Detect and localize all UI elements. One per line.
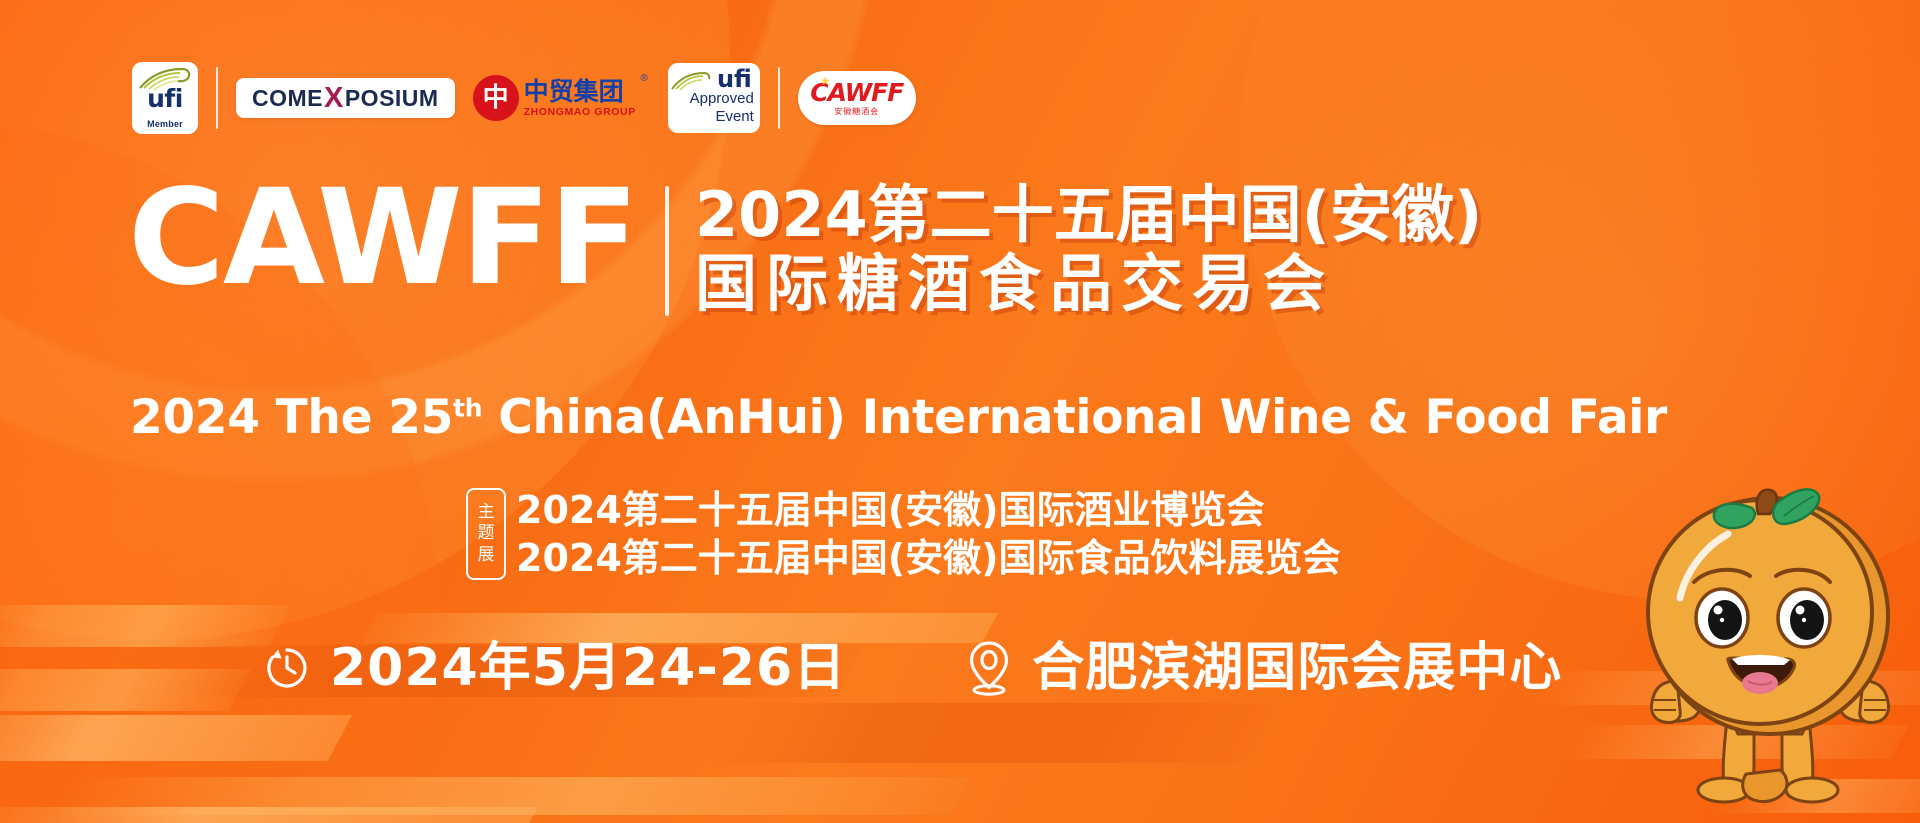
theme-exhibition-line-2: 2024第二十五届中国(安徽)国际食品饮料展览会 — [516, 536, 1341, 580]
ufi-member-subtitle: Member — [132, 119, 198, 129]
orange-mascot — [1632, 478, 1908, 823]
theme-tag-char-3: 展 — [478, 545, 495, 566]
cawff-badge-subtitle: 安徽糖酒会 — [834, 106, 879, 117]
cawff-event-banner: ufi Member COME X POSIUM 中 中贸集团 ZHONGMAO… — [0, 0, 1920, 823]
subtitle-prefix: 2024 The 25 — [130, 390, 453, 445]
ufi-approved-line-1: Approved — [668, 91, 754, 107]
location-pin-icon — [964, 640, 1014, 696]
ufi-approved-line-2: Event — [668, 109, 754, 125]
subtitle-ordinal-suffix: th — [453, 393, 482, 422]
ufi-approved-wordmark: ufi — [717, 67, 752, 91]
ufi-approved-wing-icon — [671, 71, 711, 91]
logo-divider-1 — [216, 67, 218, 129]
ufi-member-wordmark: ufi — [132, 86, 198, 111]
zhongmao-cn-name: 中贸集团 — [524, 79, 624, 104]
theme-tag-char-2: 题 — [478, 523, 495, 544]
theme-tag-label: 主 题 展 — [466, 488, 506, 580]
hero-acronym: CAWFF — [128, 178, 637, 299]
subtitle-suffix: China(AnHui) International Wine & Food F… — [482, 390, 1667, 445]
logo-divider-2 — [778, 67, 780, 129]
clock-icon — [262, 643, 312, 693]
hero-vertical-rule — [665, 186, 669, 316]
star-icon: ★ — [820, 74, 831, 88]
hero-english-subtitle: 2024 The 25th China(AnHui) International… — [130, 390, 1667, 445]
theme-exhibition-line-1: 2024第二十五届中国(安徽)国际酒业博览会 — [516, 488, 1341, 532]
comexposium-logo: COME X POSIUM — [236, 78, 455, 118]
theme-tag-char-1: 主 — [478, 502, 495, 523]
event-venue-text: 合肥滨湖国际会展中心 — [1032, 642, 1562, 694]
zhongmao-en-name: ZHONGMAO GROUP — [524, 107, 636, 118]
event-venue-item: 合肥滨湖国际会展中心 — [964, 640, 1562, 696]
ufi-member-logo: ufi Member — [132, 62, 198, 134]
ufi-approved-event-logo: ufi Approved Event — [668, 63, 760, 133]
event-info-row: 2024年5月24-26日 合肥滨湖国际会展中心 — [262, 640, 1562, 696]
comexposium-part-1: COME — [252, 85, 323, 112]
comexposium-x-icon: X — [324, 82, 344, 115]
theme-exhibitions-block: 主 题 展 2024第二十五届中国(安徽)国际酒业博览会 2024第二十五届中国… — [466, 488, 1341, 580]
hero-title-block: CAWFF 2024第二十五届中国(安徽) 国际糖酒食品交易会 — [128, 178, 1482, 316]
background-strips-left — [0, 593, 1300, 823]
hero-chinese-line-1: 2024第二十五届中国(安徽) — [695, 182, 1482, 247]
hero-chinese-line-2: 国际糖酒食品交易会 — [695, 251, 1482, 316]
zhongmao-group-logo: 中 中贸集团 ZHONGMAO GROUP ® — [473, 70, 652, 126]
cawff-logo-badge: ★ CAWFF 安徽糖酒会 — [798, 71, 916, 125]
zhongmao-dragon-mark-icon: 中 — [473, 75, 519, 121]
partner-logo-row: ufi Member COME X POSIUM 中 中贸集团 ZHONGMAO… — [132, 62, 916, 134]
orange-mascot-illustration — [1632, 478, 1908, 823]
registered-mark-icon: ® — [640, 74, 647, 84]
event-date-item: 2024年5月24-26日 — [262, 642, 846, 694]
comexposium-part-2: POSIUM — [345, 85, 439, 112]
event-date-text: 2024年5月24-26日 — [330, 642, 846, 694]
